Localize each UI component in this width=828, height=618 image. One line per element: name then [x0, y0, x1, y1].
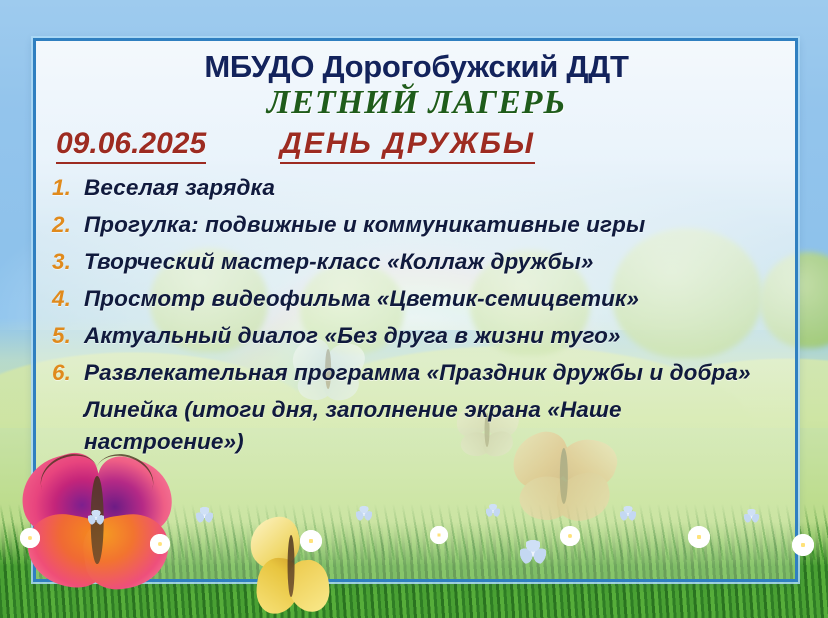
programme-item-number: 5.	[52, 320, 82, 352]
programme-list: 1.Веселая зарядка2.Прогулка: подвижные и…	[50, 172, 783, 458]
programme-item-text: Развлекательная программа «Праздник друж…	[84, 360, 751, 385]
programme-item-number: 6.	[52, 357, 82, 389]
programme-item: 7.Линейка (итоги дня, заполнение экрана …	[50, 394, 783, 458]
programme-item: 2.Прогулка: подвижные и коммуникативные …	[50, 209, 783, 241]
programme-item-text: Просмотр видеофильма «Цветик-семицветик»	[84, 286, 639, 311]
programme-item-text: Веселая зарядка	[84, 175, 275, 200]
announcement-card: МБУДО Дорогобужский ДДТ ЛЕТНИЙ ЛАГЕРЬ 09…	[33, 38, 798, 582]
programme-item: 6.Развлекательная программа «Праздник др…	[50, 357, 783, 389]
programme-item: 3.Творческий мастер-класс «Коллаж дружбы…	[50, 246, 783, 278]
headline-row: 09.06.2025 ДЕНЬ ДРУЖБЫ	[56, 127, 783, 164]
programme-item-text: Актуальный диалог «Без друга в жизни туг…	[84, 323, 621, 348]
programme-item-number: 3.	[52, 246, 82, 278]
day-theme-title: ДЕНЬ ДРУЖБЫ	[280, 127, 535, 164]
programme-item-number: 4.	[52, 283, 82, 315]
programme-item: 4.Просмотр видеофильма «Цветик-семицвети…	[50, 283, 783, 315]
programme-item: 5.Актуальный диалог «Без друга в жизни т…	[50, 320, 783, 352]
card-content: МБУДО Дорогобужский ДДТ ЛЕТНИЙ ЛАГЕРЬ 09…	[36, 41, 795, 579]
programme-item-text: Прогулка: подвижные и коммуникативные иг…	[84, 212, 645, 237]
programme-item-text: Творческий мастер-класс «Коллаж дружбы»	[84, 249, 594, 274]
summer-camp-poster: МБУДО Дорогобужский ДДТ ЛЕТНИЙ ЛАГЕРЬ 09…	[0, 0, 828, 618]
camp-title: ЛЕТНИЙ ЛАГЕРЬ	[50, 85, 783, 121]
programme-item-text: Линейка (итоги дня, заполнение экрана «Н…	[84, 397, 622, 454]
programme-item-number: 2.	[52, 209, 82, 241]
organization-title: МБУДО Дорогобужский ДДТ	[50, 51, 783, 83]
programme-item: 1.Веселая зарядка	[50, 172, 783, 204]
poster-date: 09.06.2025	[56, 127, 206, 164]
programme-item-number: 1.	[52, 172, 82, 204]
